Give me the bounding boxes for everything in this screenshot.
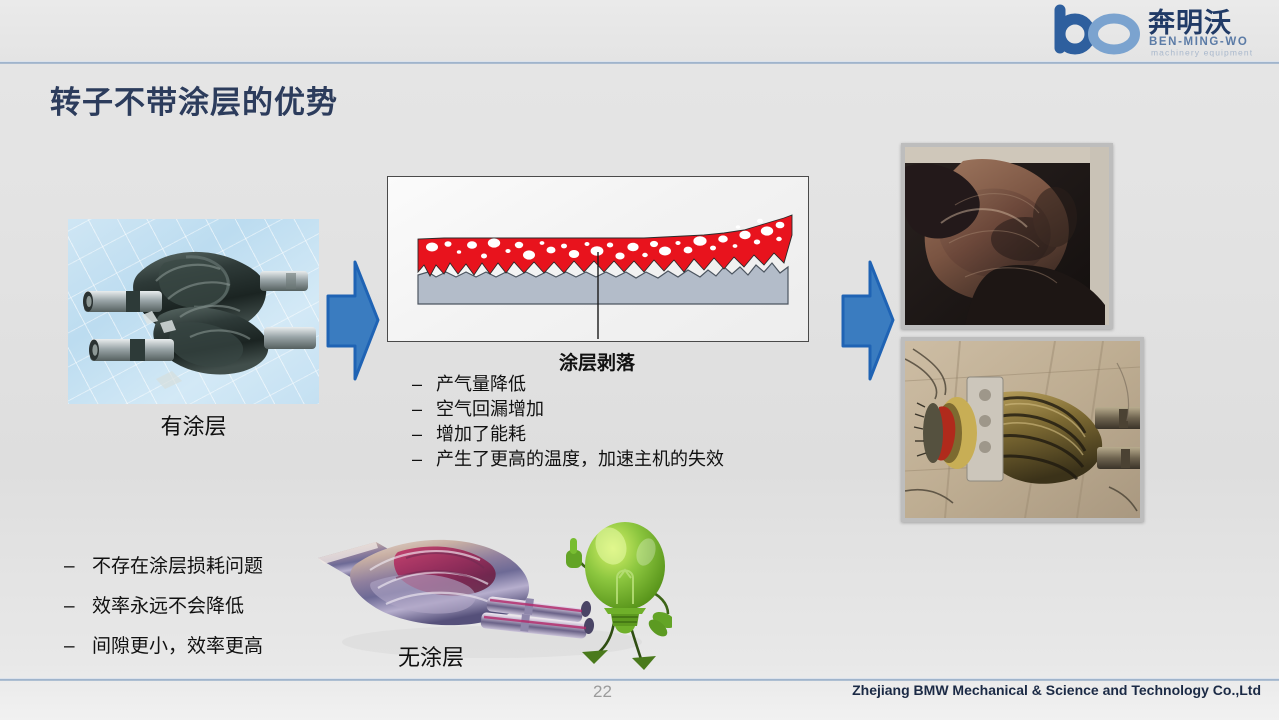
consequences-list: 产气量降低 空气回漏增加 增加了能耗 产生了更高的温度，加速主机的失效 bbox=[408, 372, 848, 472]
footer-divider bbox=[0, 678, 1279, 681]
coating-delamination-diagram bbox=[387, 176, 809, 342]
list-item: 产生了更高的温度，加速主机的失效 bbox=[408, 447, 848, 472]
bo-monogram-icon bbox=[1060, 10, 1135, 50]
uncoated-label: 无涂层 bbox=[398, 640, 464, 672]
coated-label: 有涂层 bbox=[68, 409, 319, 441]
company-logo: 奔明沃 BEN-MING-WO machinery equipment bbox=[1052, 4, 1267, 60]
list-item: 空气回漏增加 bbox=[408, 397, 848, 422]
page-number: 22 bbox=[593, 682, 612, 702]
svg-text:奔明沃: 奔明沃 bbox=[1148, 8, 1232, 38]
list-item: 产气量降低 bbox=[408, 372, 848, 397]
worn-rotor-closeup-photo bbox=[901, 143, 1113, 329]
rotor-shafts-right bbox=[260, 271, 316, 349]
slide-title: 转子不带涂层的优势 bbox=[50, 77, 338, 122]
thumbs-up-hand-icon bbox=[566, 538, 582, 568]
brand-cn-text: 奔明沃 bbox=[1148, 8, 1232, 38]
footer-company-name: Zhejiang BMW Mechanical & Science and Te… bbox=[852, 682, 1261, 698]
disassembled-airend-photo bbox=[901, 337, 1144, 522]
uncoated-rotor-artwork bbox=[312, 512, 672, 672]
slide-canvas: 奔明沃 BEN-MING-WO machinery equipment 转子不带… bbox=[0, 0, 1279, 720]
brand-tagline-text: machinery equipment bbox=[1151, 48, 1253, 58]
header-divider bbox=[0, 61, 1279, 64]
arrow-diagram-to-photos bbox=[840, 258, 896, 383]
coating-layer bbox=[418, 215, 792, 276]
coated-screw-rotor-photo bbox=[68, 219, 319, 404]
brand-en-text: BEN-MING-WO bbox=[1149, 36, 1248, 48]
diagram-caption: 涂层剥落 bbox=[387, 348, 807, 375]
uncoated-chrome-rotor-image bbox=[318, 540, 595, 639]
list-item: 增加了能耗 bbox=[408, 422, 848, 447]
arrow-coated-to-diagram bbox=[325, 258, 381, 383]
